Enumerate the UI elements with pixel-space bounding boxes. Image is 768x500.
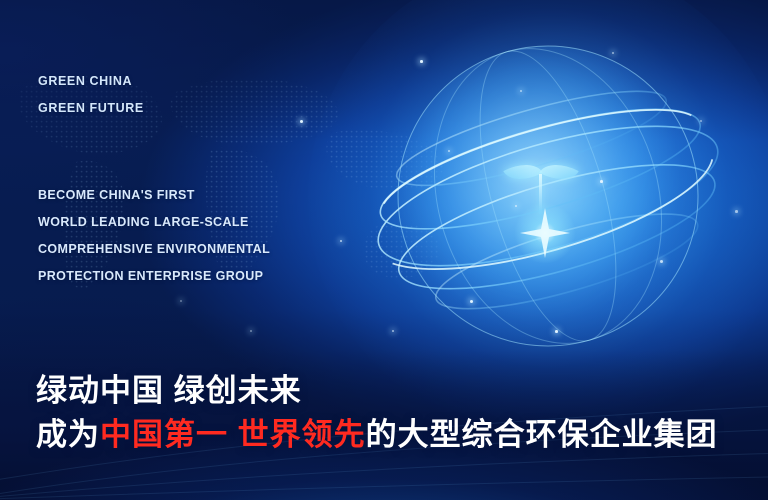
english-slogan-line-1: BECOME CHINA'S FIRST	[38, 182, 270, 209]
english-top-text: GREEN CHINA GREEN FUTURE	[38, 68, 144, 122]
chinese-text-block: 绿动中国 绿创未来 成为中国第一 世界领先的大型综合环保企业集团	[36, 370, 736, 458]
chinese-subline: 成为中国第一 世界领先的大型综合环保企业集团	[36, 412, 736, 458]
english-slogan-line-3: COMPREHENSIVE ENVIRONMENTAL	[38, 236, 270, 263]
english-slogan-line-4: PROTECTION ENTERPRISE GROUP	[38, 263, 270, 290]
english-top-line-1: GREEN CHINA	[38, 68, 144, 95]
english-slogan-text: BECOME CHINA'S FIRST WORLD LEADING LARGE…	[38, 182, 270, 290]
english-slogan-line-2: WORLD LEADING LARGE-SCALE	[38, 209, 270, 236]
chinese-subline-suffix: 的大型综合环保企业集团	[366, 417, 718, 452]
chinese-subline-prefix: 成为	[36, 417, 100, 452]
banner-image: GREEN CHINA GREEN FUTURE BECOME CHINA'S …	[0, 0, 768, 500]
english-top-line-2: GREEN FUTURE	[38, 95, 144, 122]
chinese-subline-highlight: 中国第一 世界领先	[100, 417, 366, 452]
chinese-headline: 绿动中国 绿创未来	[36, 370, 736, 412]
